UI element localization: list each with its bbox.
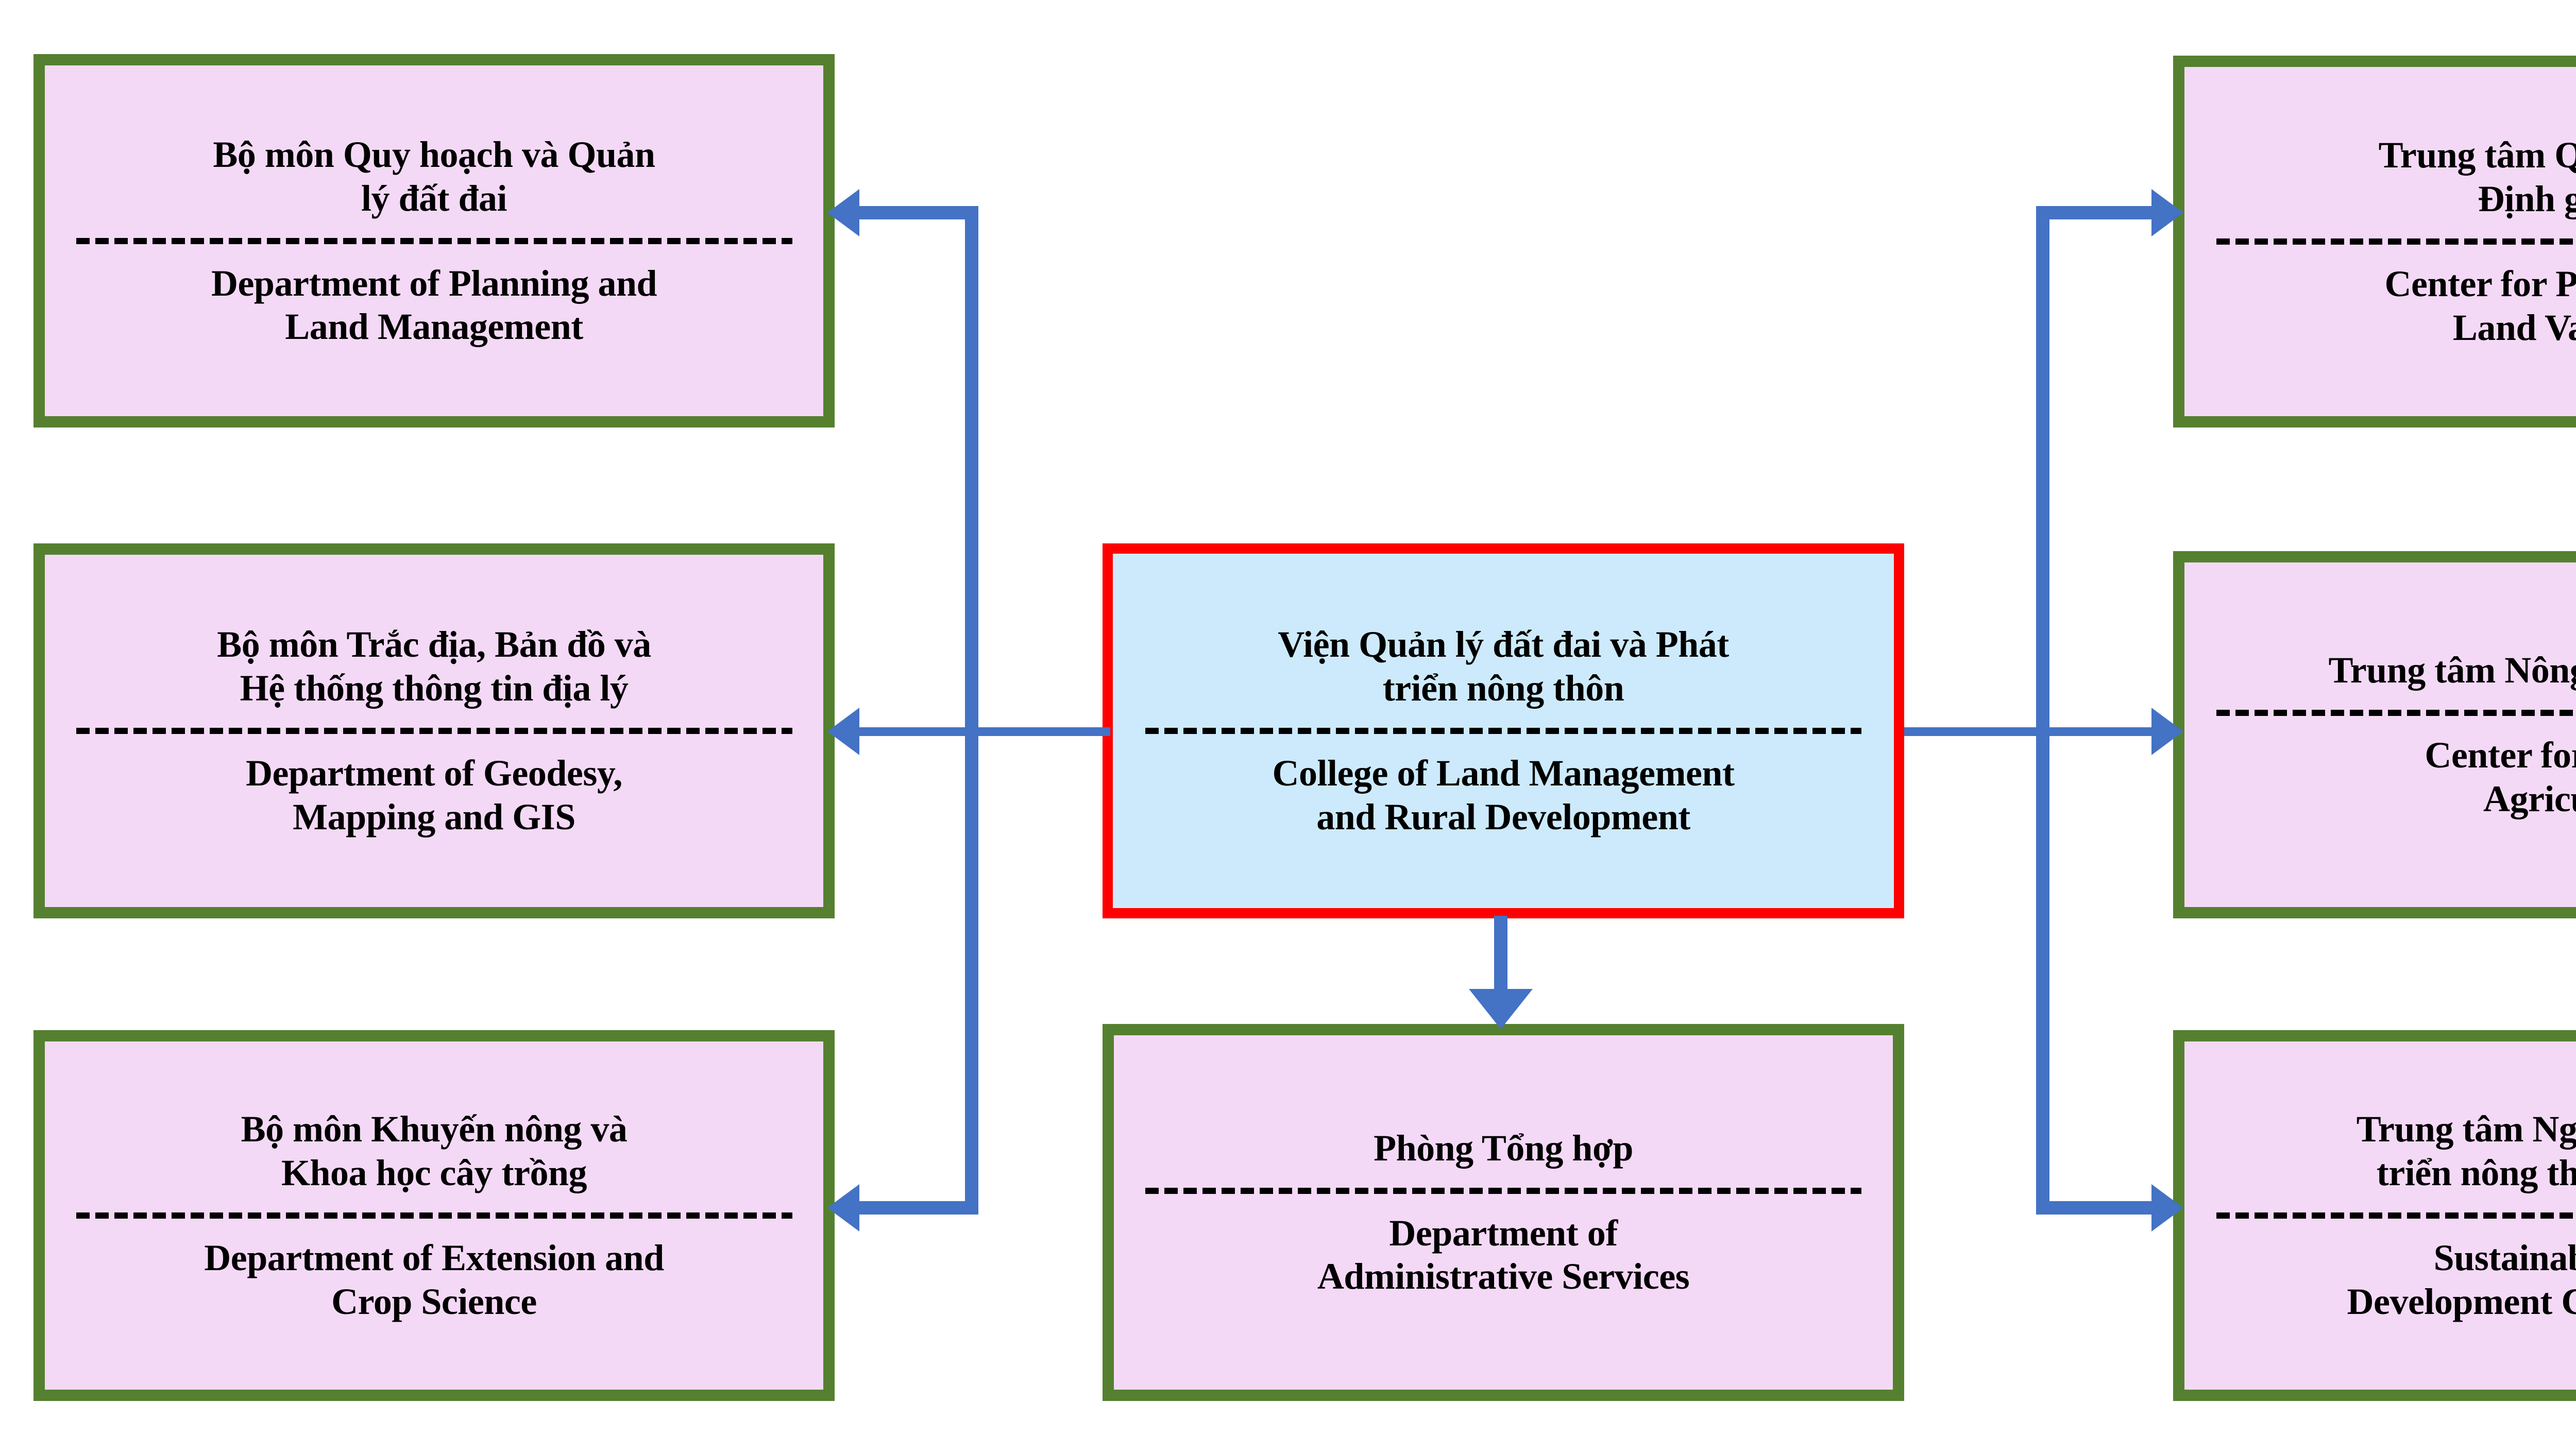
connector-right-branch-bottom xyxy=(2036,1201,2154,1215)
separator-rule xyxy=(76,728,792,734)
arrow-left-middle-icon xyxy=(827,708,859,755)
node-title-en: Department of Administrative Services xyxy=(1317,1211,1689,1299)
separator-rule xyxy=(1145,728,1861,734)
arrow-right-middle-icon xyxy=(2151,708,2183,755)
connector-root-to-right-bus xyxy=(1904,727,2049,736)
node-department-planning-land-management[interactable]: Bộ môn Quy hoạch và Quản lý đất đai Depa… xyxy=(33,54,835,428)
node-root-college-land-management[interactable]: Viện Quản lý đất đai và Phát triển nông … xyxy=(1103,543,1904,918)
arrow-left-top-icon xyxy=(827,189,859,236)
node-title-vi: Bộ môn Quy hoạch và Quản lý đất đai xyxy=(213,133,655,220)
connector-root-to-left-bus xyxy=(971,727,1110,736)
arrow-down-icon xyxy=(1469,989,1533,1029)
separator-rule xyxy=(2216,710,2576,716)
org-chart-canvas: Bộ môn Quy hoạch và Quản lý đất đai Depa… xyxy=(0,0,2576,1453)
node-title-vi: Viện Quản lý đất đai và Phát triển nông … xyxy=(1278,623,1729,710)
node-center-organic-agriculture[interactable]: Trung tâm Nông nghiệp hữu cơ Center for … xyxy=(2173,551,2576,918)
arrow-right-bottom-icon xyxy=(2151,1184,2183,1232)
node-department-extension-crop-science[interactable]: Bộ môn Khuyến nông và Khoa học cây trồng… xyxy=(33,1030,835,1401)
separator-rule xyxy=(1145,1188,1861,1194)
node-title-vi: Bộ môn Trắc địa, Bản đồ và Hệ thống thôn… xyxy=(217,623,651,710)
node-title-en: Department of Geodesy, Mapping and GIS xyxy=(246,751,622,839)
node-title-vi: Trung tâm Nông nghiệp hữu cơ xyxy=(2329,648,2576,692)
arrow-right-top-icon xyxy=(2151,189,2183,236)
node-title-vi: Trung tâm Nghiên cứu phát triển nông thô… xyxy=(2357,1107,2576,1195)
node-title-vi: Trung tâm Quy hoạch và Định giá đất xyxy=(2379,133,2576,221)
node-center-planning-land-valuation[interactable]: Trung tâm Quy hoạch và Định giá đất Cent… xyxy=(2173,56,2576,428)
node-title-vi: Bộ môn Khuyến nông và Khoa học cây trồng xyxy=(241,1107,628,1195)
arrow-left-bottom-icon xyxy=(827,1184,859,1232)
connector-right-branch-middle xyxy=(2036,727,2154,736)
separator-rule xyxy=(2216,1212,2576,1219)
node-title-en: Sustainable Rural Development Center (SR… xyxy=(2347,1236,2576,1324)
node-title-vi: Phòng Tổng hợp xyxy=(1374,1126,1633,1170)
connector-left-branch-top xyxy=(858,206,976,219)
node-department-administrative-services[interactable]: Phòng Tổng hợp Department of Administrat… xyxy=(1103,1024,1904,1401)
node-title-en: Department of Planning and Land Manageme… xyxy=(211,262,657,349)
separator-rule xyxy=(2216,238,2576,245)
node-title-en: Center for Planning and Land Valuation xyxy=(2385,262,2576,350)
connector-left-branch-bottom xyxy=(858,1201,976,1215)
node-sustainable-rural-development-center[interactable]: Trung tâm Nghiên cứu phát triển nông thô… xyxy=(2173,1030,2576,1401)
connector-right-vertical-bus xyxy=(2036,206,2049,1215)
node-title-en: College of Land Management and Rural Dev… xyxy=(1273,751,1735,839)
connector-left-branch-middle xyxy=(858,727,976,736)
node-title-en: Center for Organic Agriculture xyxy=(2425,733,2576,821)
connector-root-to-bottom xyxy=(1494,916,1507,994)
separator-rule xyxy=(76,1212,792,1219)
separator-rule xyxy=(76,238,792,244)
node-title-en: Department of Extension and Crop Science xyxy=(204,1236,664,1324)
connector-left-vertical-bus xyxy=(965,206,978,1215)
node-department-geodesy-mapping-gis[interactable]: Bộ môn Trắc địa, Bản đồ và Hệ thống thôn… xyxy=(33,543,835,918)
connector-right-branch-top xyxy=(2036,206,2154,219)
